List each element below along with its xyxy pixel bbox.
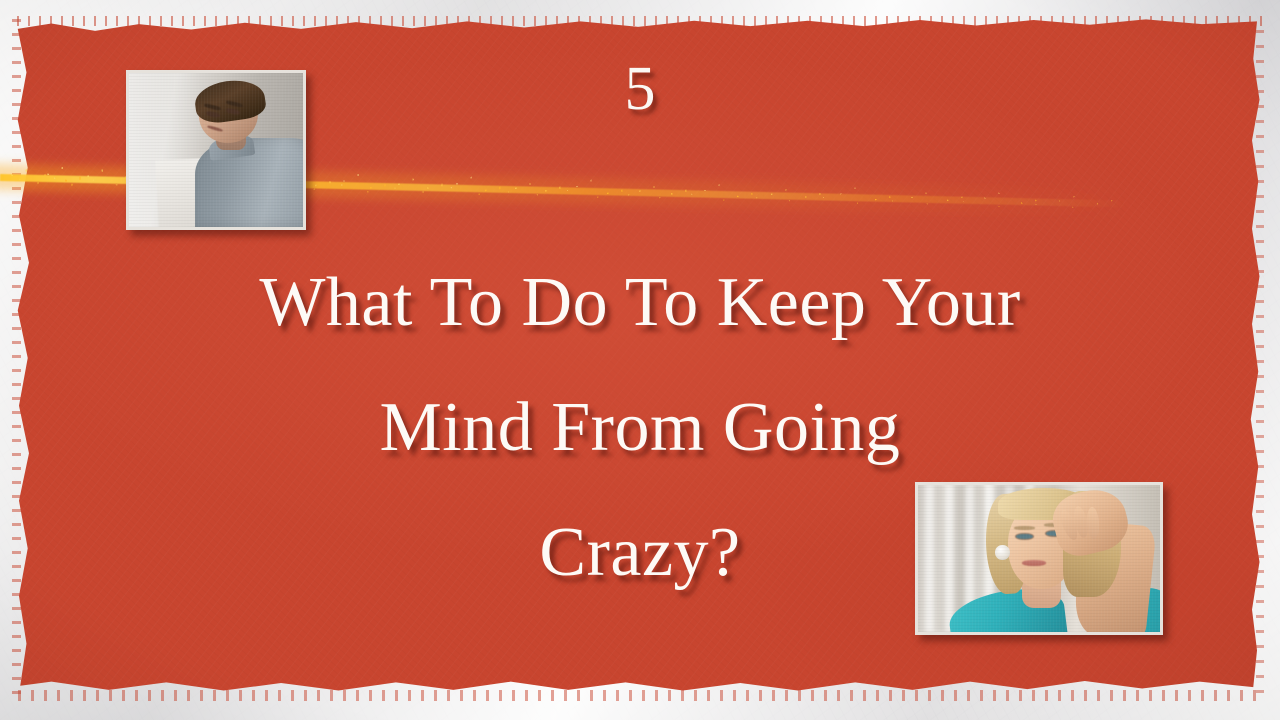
slide-canvas: 5 What To Do To Keep Your Mind From Goin… (0, 0, 1280, 720)
slide-number: 5 (0, 58, 1280, 120)
headline-line-1: What To Do To Keep Your (80, 240, 1200, 365)
headline-line-3: Crazy? (80, 490, 1200, 615)
headline: What To Do To Keep Your Mind From Going … (80, 240, 1200, 615)
headline-line-2: Mind From Going (80, 365, 1200, 490)
